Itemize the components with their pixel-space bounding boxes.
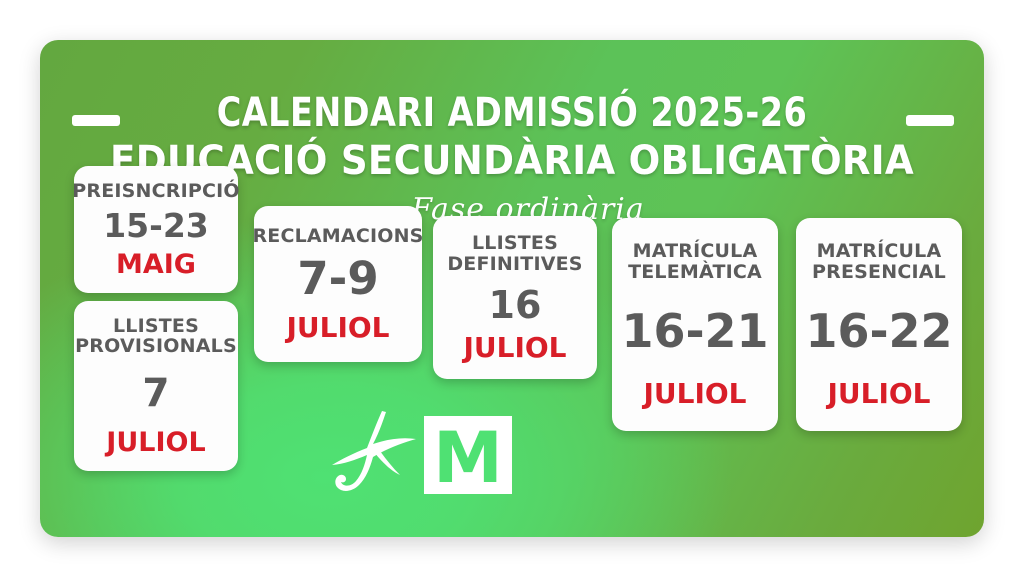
brushstroke-a-icon [332,411,416,491]
card-month: JULIOL [827,380,930,408]
poster-panel: CALENDARI ADMISSIÓ 2025-26 EDUCACIÓ SECU… [40,40,984,537]
card-days: 16-22 [805,308,952,354]
card-matricula-presencial: MATRÍCULA PRESENCIAL 16-22 JULIOL [796,218,962,431]
card-days: 16 [489,286,542,324]
svg-text:M: M [433,417,503,499]
card-month: JULIOL [643,380,746,408]
card-month: MAIG [116,251,196,278]
card-matricula-telematica: MATRÍCULA TELEMÀTICA 16-21 JULIOL [612,218,778,431]
card-preinscripcio: PREISNCRIPCIÓ 15-23 MAIG [74,166,238,293]
card-llistes-provisionals: LLISTES PROVISIONALS 7 JULIOL [74,301,238,471]
card-days: 7-9 [297,256,378,301]
card-days: 15-23 [103,209,209,242]
page-title-line1: CALENDARI ADMISSIÓ 2025-26 [73,90,951,136]
letter-m-icon: M [424,416,512,499]
card-label: MATRÍCULA TELEMÀTICA [620,241,770,281]
am-logo: M [328,408,518,500]
card-label: RECLAMACIONS [252,226,423,246]
card-month: JULIOL [463,334,566,362]
card-label: MATRÍCULA PRESENCIAL [804,241,954,281]
card-month: JULIOL [106,429,205,456]
card-llistes-definitives: LLISTES DEFINITIVES 16 JULIOL [433,216,597,379]
card-days: 7 [142,374,169,413]
card-reclamacions: RECLAMACIONS 7-9 JULIOL [254,206,422,362]
card-month: JULIOL [286,314,389,342]
card-label: LLISTES DEFINITIVES [441,233,589,273]
card-label: LLISTES PROVISIONALS [75,316,237,356]
card-days: 16-21 [621,308,768,354]
card-label: PREISNCRIPCIÓ [72,181,240,201]
